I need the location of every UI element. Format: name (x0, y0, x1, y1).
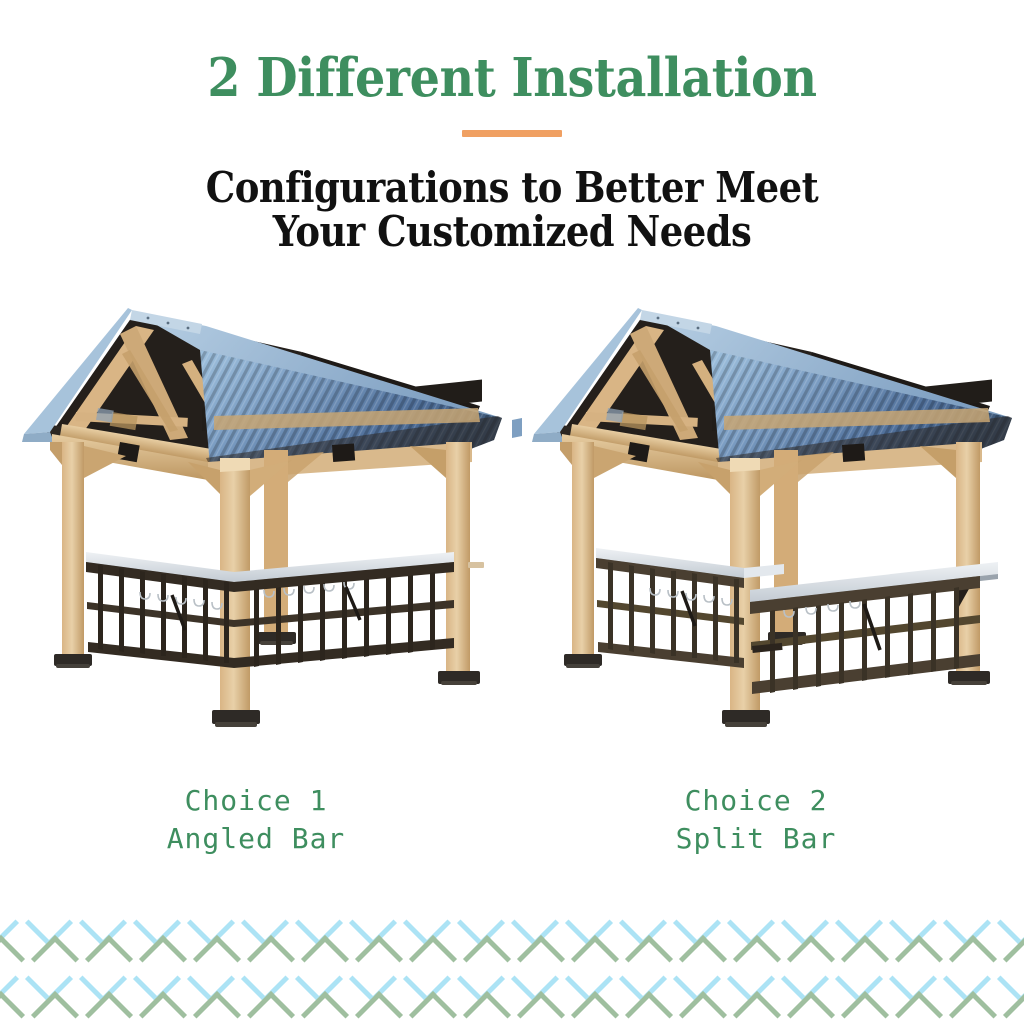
rail-hooks-left (650, 588, 732, 605)
caption-choice-1: Choice 1 Angled Bar (0, 782, 512, 858)
chevron-up-icon (895, 991, 943, 1024)
chevron-up-icon (571, 991, 619, 1024)
chevron-up-icon (85, 991, 133, 1024)
caption-choice-2-title: Choice 2 (500, 782, 1012, 820)
gazebo-split-bar-photo (512, 290, 1024, 760)
chevron-row (0, 996, 1024, 1024)
chevron-up-icon (193, 991, 241, 1024)
chevron-up-icon (787, 991, 835, 1024)
roof-edge-bleed (512, 418, 522, 438)
chevron-up-icon (841, 991, 889, 1024)
chevron-up-icon (949, 991, 997, 1024)
chevron-up-icon (679, 991, 727, 1024)
chevron-up-icon (625, 991, 673, 1024)
footer-chevron-band (0, 912, 1024, 1024)
page-subtitle-line-2: Your Customized Needs (61, 210, 962, 254)
infographic-page: 2 Different Installation Configurations … (0, 0, 1024, 1024)
chevron-up-icon (301, 991, 349, 1024)
gazebo-angled-bar-photo (2, 290, 514, 760)
chevron-up-icon (409, 991, 457, 1024)
chevron-up-icon (1003, 991, 1024, 1024)
caption-choice-1-variant: Angled Bar (0, 820, 512, 858)
caption-choice-2-variant: Split Bar (500, 820, 1012, 858)
caption-choice-1-title: Choice 1 (0, 782, 512, 820)
chevron-up-icon (463, 991, 511, 1024)
chevron-up-icon (517, 991, 565, 1024)
page-subtitle-line-1: Configurations to Better Meet (206, 163, 818, 212)
caption-choice-2: Choice 2 Split Bar (500, 782, 1012, 858)
gazebo-choice-2-figure (512, 290, 1024, 760)
chevron-up-icon (139, 991, 187, 1024)
post-front-center (212, 458, 260, 727)
chevron-up-icon (355, 991, 403, 1024)
chevron-up-icon (247, 991, 295, 1024)
chevron-up-icon (0, 991, 25, 1024)
title-divider (462, 130, 562, 137)
page-subtitle: Configurations to Better Meet Your Custo… (61, 166, 962, 254)
gazebo-choice-1-figure (2, 290, 514, 760)
rail-hooks-left (140, 592, 222, 609)
chevron-up-icon (31, 991, 79, 1024)
page-title: 2 Different Installation (51, 52, 973, 105)
chevron-up-icon (733, 991, 781, 1024)
